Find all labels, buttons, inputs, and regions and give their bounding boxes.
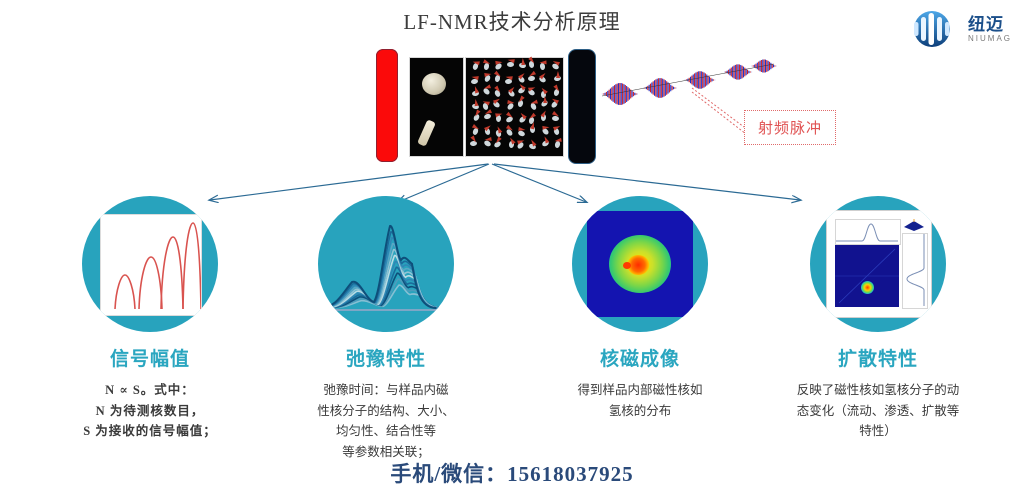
card-body: 得到样品内部磁性核如 氢核的分布 [512,380,768,421]
spin-arrow [528,85,536,91]
contact-footer: 手机/微信：15618037925 [0,458,1024,488]
card-line: 均匀性、结合性等 [258,421,514,442]
spin-arrow [518,127,526,132]
spin-arrow [518,71,526,79]
card-signal-amplitude[interactable]: 信号幅值 N ∝ S。式中： N 为待测核数目， S 为接收的信号幅值； [22,196,278,442]
sample-panel [409,57,464,157]
card-line: 得到样品内部磁性核如 [512,380,768,401]
spin-arrow [552,124,560,130]
magnet-pole-left [376,49,398,162]
relaxation-plot [318,196,454,332]
spin-arrow [520,58,524,65]
card-line: 特性） [750,421,1006,442]
mri-secondary-hotspot [623,262,631,269]
page-title: LF-NMR技术分析原理 [0,6,1024,36]
diffusion-right-marginal [902,233,928,309]
signal-amplitude-peaks-icon [82,196,218,332]
card-line: S 为接收的信号幅值； [22,421,278,442]
relaxation-curves-icon [318,196,454,332]
spin-arrow [540,110,547,118]
card-body: 反映了磁性核如氢核分子的动 态变化（流动、渗透、扩散等 特性） [750,380,1006,442]
logo-wordmark: 纽迈 NIUMAG [968,16,1012,43]
diffusion-top-marginal [835,219,901,245]
nuclear-spins-panel [465,57,564,157]
spin-arrow [539,71,547,79]
rf-pulse-label: 射频脉冲 [744,110,836,145]
diffusion-3d-thumb [902,218,926,232]
niumag-waveform-icon [902,10,962,48]
card-mri[interactable]: 核磁成像 得到样品内部磁性核如 氢核的分布 [512,196,768,421]
spin-arrow [495,111,503,116]
concept-cards: 信号幅值 N ∝ S。式中： N 为待测核数目， S 为接收的信号幅值； 弛豫特… [0,196,1024,496]
card-line: 氢核的分布 [512,401,768,422]
spin-arrow [496,60,503,65]
card-body: 弛豫时间：与样品内磁 性核分子的结构、大小、 均匀性、结合性等 等参数相关联； [258,380,514,463]
card-body: N ∝ S。式中： N 为待测核数目， S 为接收的信号幅值； [22,380,278,442]
logo-latin-name: NIUMAG [968,35,1012,43]
card-line: N ∝ S。式中： [22,380,278,401]
card-title: 核磁成像 [512,344,768,371]
magnet-pole-right [568,49,596,164]
spin-arrow [540,60,547,64]
card-line: 反映了磁性核如氢核分子的动 [750,380,1006,401]
spin-arrow [543,135,550,143]
card-title: 信号幅值 [22,344,278,371]
mri-plot [587,211,693,317]
slide-canvas: LF-NMR技术分析原理 纽迈 NIUMAG [0,0,1024,498]
spin-arrow [530,122,536,130]
card-line: N 为待测核数目， [22,401,278,422]
sample-round-object [422,73,446,95]
card-diffusion[interactable]: 扩散特性 反映了磁性核如氢核分子的动 态变化（流动、渗透、扩散等 特性） [750,196,1006,442]
spin-arrow [484,137,492,142]
peaks-plot [100,214,202,316]
spin-arrow [493,97,501,104]
diffusion-2d-map [835,245,899,307]
card-line: 态变化（流动、渗透、扩散等 [750,401,1006,422]
diffusion-map-icon [810,196,946,332]
logo-chinese-name: 纽迈 [968,16,1012,33]
spin-arrow [483,84,491,90]
spin-arrow [528,112,536,120]
spin-arrow [506,74,514,79]
spin-arrow [543,96,547,103]
card-title: 扩散特性 [750,344,1006,371]
spin-arrow [473,99,478,107]
brand-logo: 纽迈 NIUMAG [902,10,1012,48]
card-line: 弛豫时间：与样品内磁 [258,380,514,401]
card-title: 弛豫特性 [258,344,514,371]
sample-rod-object [417,119,436,146]
nmr-magnet-apparatus [376,49,596,162]
spin-arrow [542,125,549,130]
diffusion-peak-spot [861,281,874,294]
card-line: 性核分子的结构、大小、 [258,401,514,422]
spin-arrow [556,71,560,78]
diffusion-plot [826,210,932,318]
card-relaxation[interactable]: 弛豫特性 弛豫时间：与样品内磁 性核分子的结构、大小、 均匀性、结合性等 等参数… [258,196,514,463]
mri-image-icon [572,196,708,332]
